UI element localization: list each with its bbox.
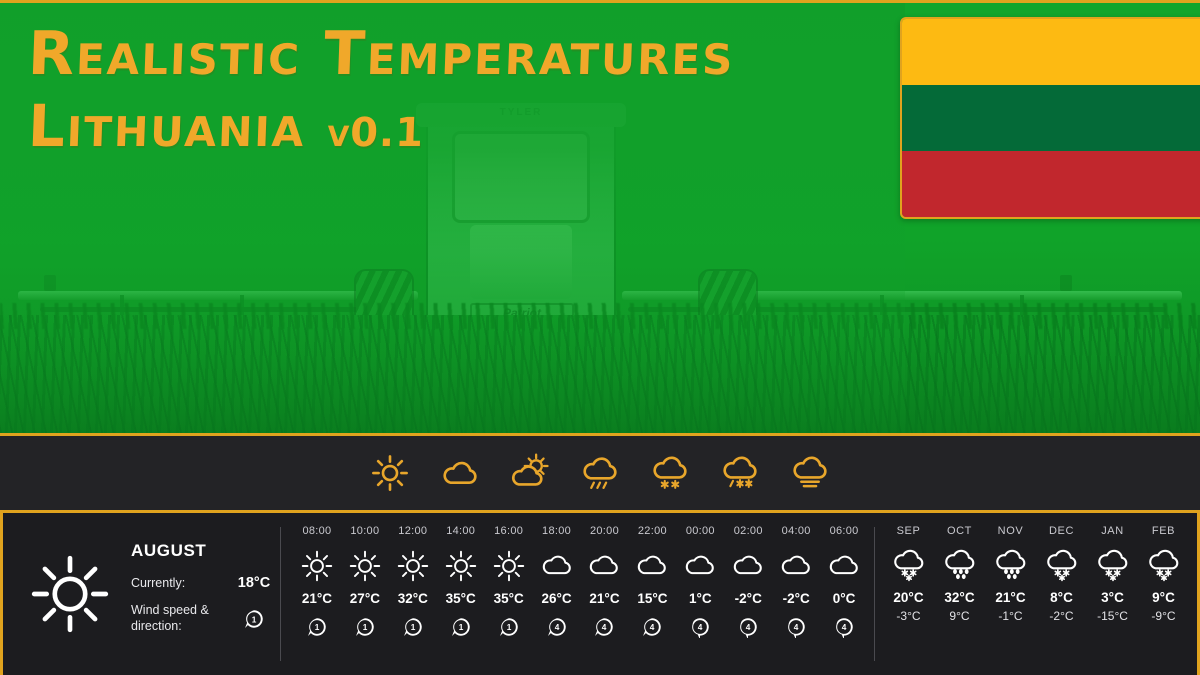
hourly-temp: 15°C — [637, 591, 667, 606]
hourly-time: 20:00 — [590, 525, 619, 537]
sun-icon — [369, 452, 411, 494]
wind-value: 1 — [506, 623, 511, 632]
hourly-time: 14:00 — [446, 525, 475, 537]
monthly-high: 32°C — [944, 590, 974, 605]
wind-direction-icon: 4 — [641, 616, 663, 638]
monthly-month: OCT — [947, 525, 972, 537]
monthly-high: 9°C — [1152, 590, 1175, 605]
wind-value: 4 — [554, 623, 559, 632]
hourly-forecast-item[interactable]: 16:00 35°C 1 — [485, 525, 533, 667]
monthly-low: -2°C — [1049, 609, 1073, 623]
snow-cloud-icon — [1093, 545, 1133, 585]
hourly-wind-badge: 1 — [402, 616, 424, 638]
sun-behind-cloud-icon — [509, 452, 551, 494]
monthly-high: 20°C — [893, 590, 923, 605]
hourly-wind-badge: 4 — [737, 616, 759, 638]
wind-direction-icon: 4 — [546, 616, 568, 638]
wind-value: 4 — [698, 623, 703, 632]
snow-cloud-icon — [649, 452, 691, 494]
snow-cloud-icon — [1144, 545, 1184, 585]
title-version: v0.1 — [327, 110, 425, 156]
hourly-wind-badge: 4 — [546, 616, 568, 638]
weather-legend-bar — [0, 433, 1200, 513]
hourly-wind-badge: 1 — [498, 616, 520, 638]
monthly-high: 3°C — [1101, 590, 1124, 605]
hourly-wind-badge: 1 — [354, 616, 376, 638]
wind-direction-icon: 4 — [833, 616, 855, 638]
monthly-month: DEC — [1049, 525, 1074, 537]
sun-icon — [490, 547, 528, 585]
forecast-panel: AUGUST Currently: 18°C Wind speed & dire… — [0, 513, 1200, 675]
hourly-forecast-item[interactable]: 20:00 21°C 4 — [581, 525, 629, 667]
wind-value: 4 — [746, 623, 751, 632]
monthly-low: -15°C — [1097, 609, 1128, 623]
hourly-temp: -2°C — [735, 591, 762, 606]
rain-cloud-icon — [991, 545, 1031, 585]
monthly-month: SEP — [897, 525, 921, 537]
monthly-forecast-item[interactable]: SEP 20°C -3°C — [883, 525, 934, 667]
monthly-month: NOV — [998, 525, 1024, 537]
flag-stripe-green — [902, 85, 1200, 151]
monthly-low: -3°C — [896, 609, 920, 623]
currently-label: Currently: — [131, 576, 231, 592]
lithuania-flag — [900, 17, 1200, 219]
wind-value: 4 — [794, 623, 799, 632]
hourly-forecast-item[interactable]: 02:00 -2°C 4 — [724, 525, 772, 667]
wind-direction-icon: 4 — [785, 616, 807, 638]
hourly-forecast-item[interactable]: 12:00 32°C 1 — [389, 525, 437, 667]
hourly-time: 00:00 — [686, 525, 715, 537]
hourly-forecast-item[interactable]: 10:00 27°C 1 — [341, 525, 389, 667]
monthly-month: JAN — [1101, 525, 1124, 537]
hourly-temp: 0°C — [833, 591, 856, 606]
wind-value: 1 — [411, 623, 416, 632]
hourly-time: 08:00 — [302, 525, 331, 537]
title-line-1: Realistic Temperatures — [27, 25, 736, 84]
wind-value: 4 — [842, 623, 847, 632]
hourly-temp: 35°C — [494, 591, 524, 606]
hourly-wind-badge: 4 — [785, 616, 807, 638]
monthly-forecast-item[interactable]: DEC 8°C -2°C — [1036, 525, 1087, 667]
wind-direction-icon: 1 — [354, 616, 376, 638]
wind-value: 4 — [650, 623, 655, 632]
hourly-temp: 27°C — [350, 591, 380, 606]
wind-direction-icon: 1 — [243, 608, 265, 630]
monthly-high: 8°C — [1050, 590, 1073, 605]
hourly-temp: -2°C — [783, 591, 810, 606]
hourly-forecast-item[interactable]: 04:00 -2°C 4 — [772, 525, 820, 667]
hourly-time: 22:00 — [638, 525, 667, 537]
hourly-time: 16:00 — [494, 525, 523, 537]
hourly-forecast-item[interactable]: 18:00 26°C 4 — [533, 525, 581, 667]
current-wind-badge: 1 — [231, 608, 277, 630]
cloud-icon — [777, 547, 815, 585]
wind-value: 1 — [458, 623, 463, 632]
monthly-forecast-item[interactable]: FEB 9°C -9°C — [1138, 525, 1189, 667]
monthly-forecast-item[interactable]: OCT 32°C 9°C — [934, 525, 985, 667]
hourly-time: 12:00 — [398, 525, 427, 537]
cloud-icon — [538, 547, 576, 585]
monthly-low: -1°C — [998, 609, 1022, 623]
hourly-time: 10:00 — [350, 525, 379, 537]
title-line-2: Lithuania v0.1 — [27, 98, 736, 155]
cloud-icon — [729, 547, 767, 585]
hourly-wind-badge: 4 — [689, 616, 711, 638]
wind-label: Wind speed & direction: — [131, 603, 231, 634]
rain-cloud-icon — [579, 452, 621, 494]
wind-direction-icon: 4 — [689, 616, 711, 638]
current-month: AUGUST — [131, 541, 277, 561]
wind-value: 1 — [252, 615, 257, 624]
sun-icon — [394, 547, 432, 585]
hourly-wind-badge: 4 — [641, 616, 663, 638]
hourly-temp: 21°C — [302, 591, 332, 606]
cloud-icon — [681, 547, 719, 585]
monthly-forecast-item[interactable]: JAN 3°C -15°C — [1087, 525, 1138, 667]
fog-cloud-icon — [789, 452, 831, 494]
hourly-forecast-item[interactable]: 08:00 21°C 1 — [293, 525, 341, 667]
cloud-icon — [585, 547, 623, 585]
page-title: Realistic Temperatures Lithuania v0.1 — [28, 25, 735, 155]
sun-icon — [27, 551, 113, 637]
hourly-time: 18:00 — [542, 525, 571, 537]
hourly-forecast-list: 08:00 21°C 1 10:00 27°C 1 — [281, 513, 874, 675]
monthly-forecast-item[interactable]: NOV 21°C -1°C — [985, 525, 1036, 667]
rain-cloud-icon — [940, 545, 980, 585]
wind-direction-icon: 1 — [402, 616, 424, 638]
hourly-time: 06:00 — [830, 525, 859, 537]
monthly-month: FEB — [1152, 525, 1175, 537]
sun-icon — [298, 547, 336, 585]
hourly-temp: 35°C — [446, 591, 476, 606]
sun-icon — [442, 547, 480, 585]
wind-value: 1 — [363, 623, 368, 632]
wind-value: 4 — [602, 623, 607, 632]
hourly-forecast-item[interactable]: 22:00 15°C 4 — [628, 525, 676, 667]
wind-value: 1 — [315, 623, 320, 632]
hourly-temp: 32°C — [398, 591, 428, 606]
wind-direction-icon: 1 — [450, 616, 472, 638]
flag-stripe-yellow — [902, 19, 1200, 85]
currently-value: 18°C — [238, 575, 270, 591]
monthly-low: -9°C — [1151, 609, 1175, 623]
hourly-time: 02:00 — [734, 525, 763, 537]
hourly-temp: 1°C — [689, 591, 712, 606]
wind-direction-icon: 4 — [737, 616, 759, 638]
hourly-wind-badge: 4 — [593, 616, 615, 638]
hourly-temp: 21°C — [589, 591, 619, 606]
wind-direction-icon: 4 — [593, 616, 615, 638]
hourly-wind-badge: 1 — [306, 616, 328, 638]
cloud-icon — [825, 547, 863, 585]
hourly-forecast-item[interactable]: 06:00 0°C 4 — [820, 525, 868, 667]
flag-stripe-red — [902, 151, 1200, 217]
wind-row: Wind speed & direction: 1 — [131, 603, 277, 634]
monthly-high: 21°C — [995, 590, 1025, 605]
hourly-wind-badge: 4 — [833, 616, 855, 638]
current-conditions-block: AUGUST Currently: 18°C Wind speed & dire… — [3, 513, 280, 675]
wind-direction-icon: 1 — [498, 616, 520, 638]
monthly-low: 9°C — [949, 609, 969, 623]
hourly-time: 04:00 — [782, 525, 811, 537]
sun-icon — [346, 547, 384, 585]
currently-row: Currently: 18°C — [131, 575, 277, 591]
cloud-icon — [439, 452, 481, 494]
wind-direction-icon: 1 — [306, 616, 328, 638]
sleet-cloud-icon — [719, 452, 761, 494]
weather-mod-banner: TYLER Realistic Temperatures Lithuania v… — [0, 0, 1200, 675]
snow-cloud-icon — [1042, 545, 1082, 585]
title-country: Lithuania — [27, 92, 307, 160]
cloud-icon — [633, 547, 671, 585]
snow-cloud-icon — [889, 545, 929, 585]
hourly-wind-badge: 1 — [450, 616, 472, 638]
spray-nozzle — [1060, 275, 1072, 291]
hourly-forecast-item[interactable]: 14:00 35°C 1 — [437, 525, 485, 667]
hourly-forecast-item[interactable]: 00:00 1°C 4 — [676, 525, 724, 667]
monthly-forecast-list: SEP 20°C -3°C OCT 32°C 9°C NOV — [875, 513, 1197, 675]
hourly-temp: 26°C — [541, 591, 571, 606]
